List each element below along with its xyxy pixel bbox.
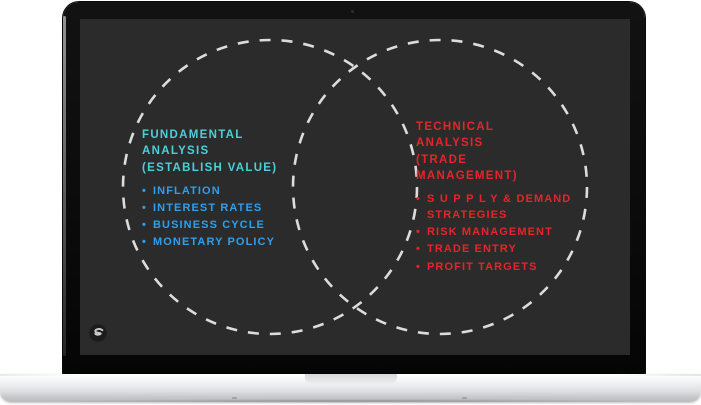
laptop-mockup: FUNDAMENTAL ANALYSIS (ESTABLISH VALUE) I…: [0, 0, 701, 405]
venn-right-heading-line-3: (TRADE: [416, 152, 594, 168]
venn-left-heading: FUNDAMENTAL ANALYSIS (ESTABLISH VALUE): [142, 127, 322, 176]
lid-edge-highlight: [63, 16, 66, 356]
list-item: PROFIT TARGETS: [416, 259, 594, 275]
venn-right-heading-line-4: MANAGEMENT): [416, 168, 594, 184]
brand-logo-icon: [88, 323, 108, 343]
list-item-word-demand: DEMAND: [516, 193, 571, 205]
list-item: INTEREST RATES: [142, 200, 322, 216]
laptop-base: [0, 374, 701, 402]
webcam-icon: [351, 10, 354, 13]
venn-right-heading-line-1: TECHNICAL: [416, 119, 594, 135]
laptop-drop-shadow: [40, 399, 661, 403]
venn-left-text-block: FUNDAMENTAL ANALYSIS (ESTABLISH VALUE) I…: [142, 127, 322, 251]
screenshot-stage: FUNDAMENTAL ANALYSIS (ESTABLISH VALUE) I…: [0, 0, 701, 405]
laptop-screen: FUNDAMENTAL ANALYSIS (ESTABLISH VALUE) I…: [80, 19, 630, 355]
venn-left-list: INFLATION INTEREST RATES BUSINESS CYCLE …: [142, 183, 322, 250]
base-lid-notch: [305, 374, 397, 384]
venn-right-list: SUPPLY&DEMANDSTRATEGIES RISK MANAGEMENT …: [416, 191, 594, 274]
list-item-word-supply: SUPPLY: [427, 193, 503, 205]
venn-right-text-block: TECHNICAL ANALYSIS (TRADE MANAGEMENT) SU…: [416, 119, 594, 276]
list-item-word-strategies: STRATEGIES: [427, 209, 507, 221]
list-item: BUSINESS CYCLE: [142, 217, 322, 233]
list-item: TRADE ENTRY: [416, 241, 594, 257]
venn-right-heading: TECHNICAL ANALYSIS (TRADE MANAGEMENT): [416, 119, 594, 184]
venn-right-heading-line-2: ANALYSIS: [416, 135, 594, 151]
list-item: SUPPLY&DEMANDSTRATEGIES: [416, 191, 594, 223]
venn-left-heading-line-2: ANALYSIS: [142, 143, 322, 159]
list-item-word-amp: &: [503, 193, 516, 205]
venn-left-heading-line-3: (ESTABLISH VALUE): [142, 160, 322, 176]
list-item: RISK MANAGEMENT: [416, 224, 594, 240]
slide-canvas: FUNDAMENTAL ANALYSIS (ESTABLISH VALUE) I…: [80, 19, 630, 355]
list-item: MONETARY POLICY: [142, 234, 322, 250]
venn-left-heading-line-1: FUNDAMENTAL: [142, 127, 322, 143]
list-item: INFLATION: [142, 183, 322, 199]
